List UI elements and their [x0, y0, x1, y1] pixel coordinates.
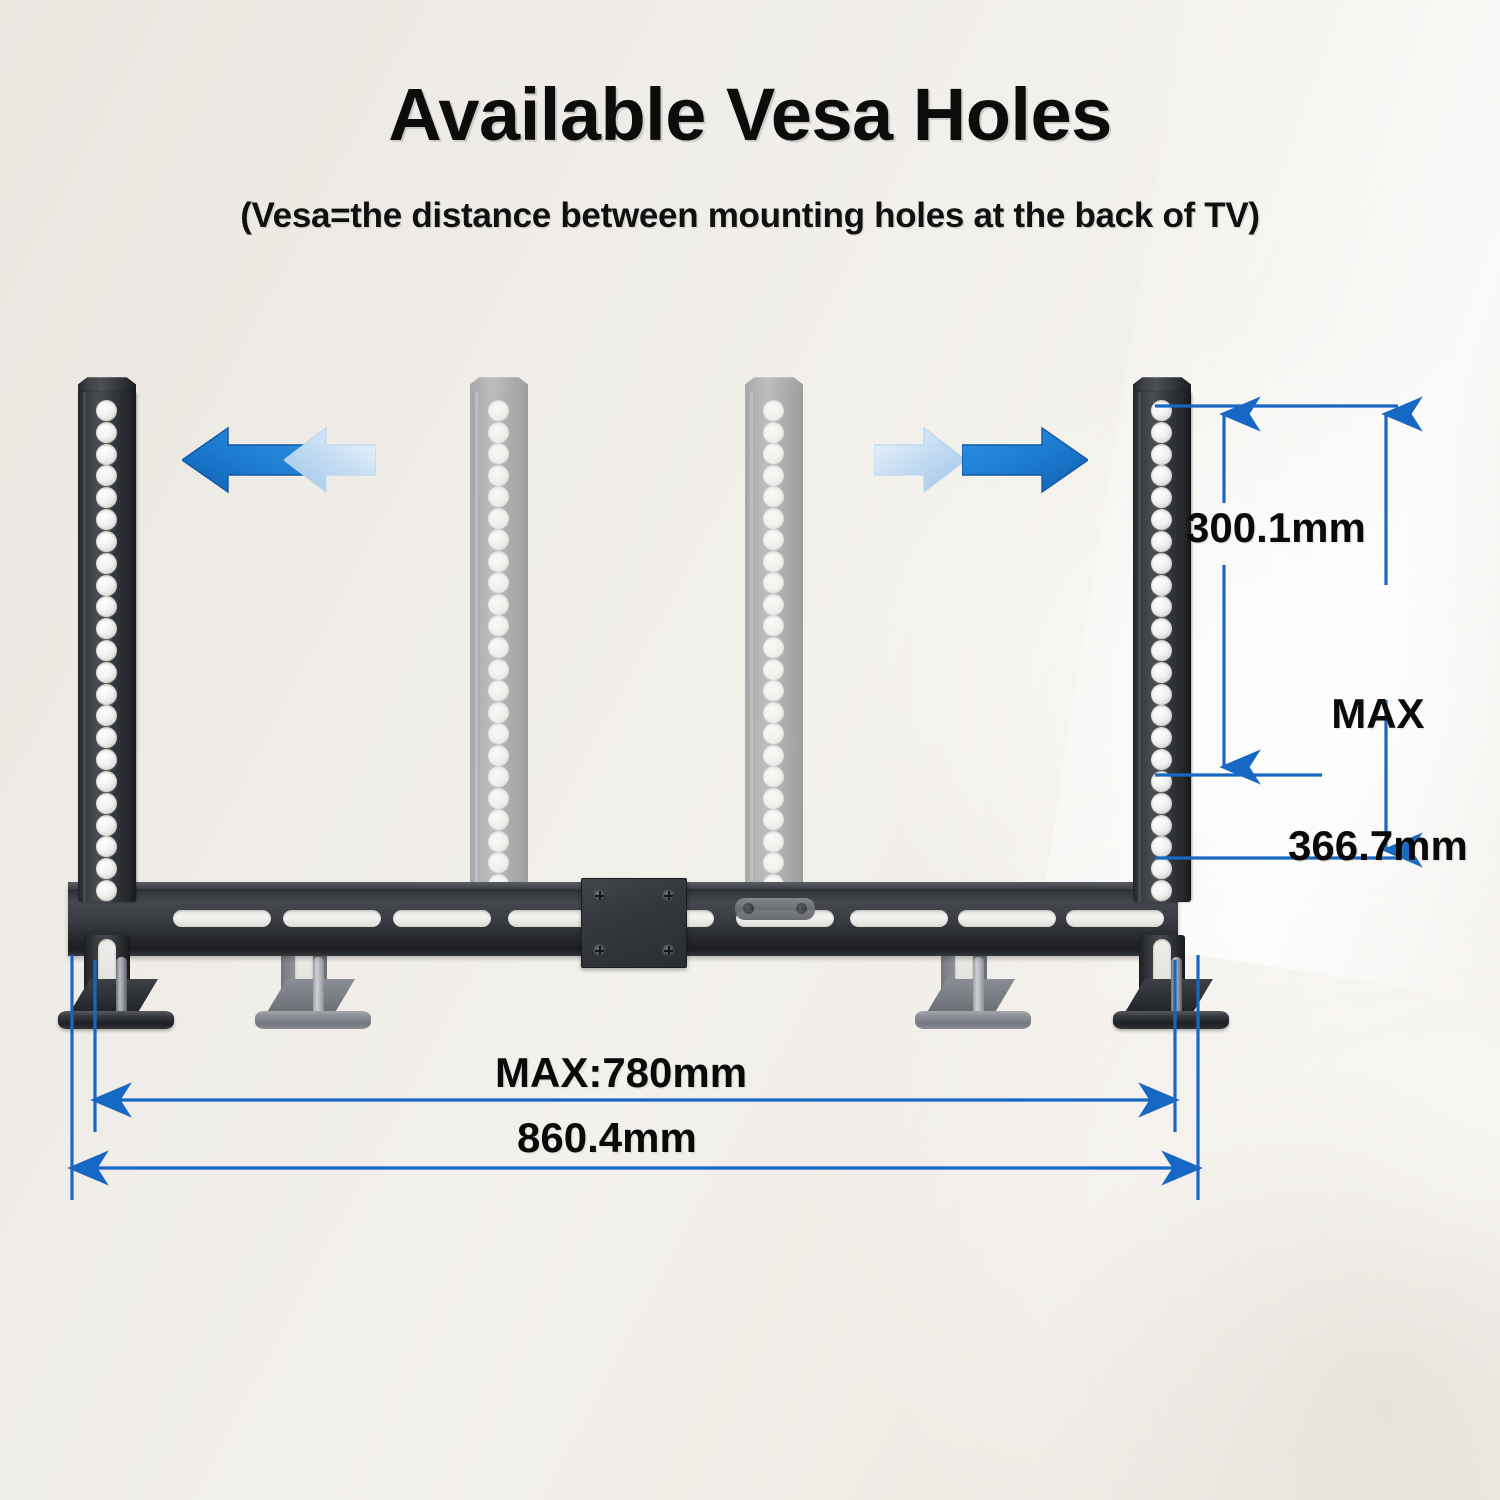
vesa-hole: [1151, 531, 1172, 552]
vesa-hole: [1151, 815, 1172, 836]
arrow-right-outer: [962, 424, 1088, 496]
vesa-hole: [763, 680, 784, 701]
middle-arm-ghost-1: [470, 392, 528, 896]
vesa-hole: [1151, 575, 1172, 596]
max-height-value: 366.7mm: [1288, 824, 1468, 868]
vesa-hole: [96, 575, 117, 596]
page-subtitle: (Vesa=the distance between mounting hole…: [0, 196, 1500, 236]
foot-post: [116, 957, 127, 1019]
vesa-hole: [96, 880, 117, 901]
middle-arm-ghost-2: [745, 392, 803, 896]
vesa-hole: [763, 422, 784, 443]
rail-slot: [283, 910, 381, 927]
vesa-hole: [96, 444, 117, 465]
vesa-hole: [96, 553, 117, 574]
vesa-hole: [488, 637, 509, 658]
vesa-hole: [763, 831, 784, 852]
vesa-hole: [763, 788, 784, 809]
vesa-hole: [96, 771, 117, 792]
vesa-hole: [96, 684, 117, 705]
arm-bevel-highlight: [750, 392, 753, 896]
vesa-hole: [763, 594, 784, 615]
vesa-hole: [1151, 553, 1172, 574]
plate-screw: [593, 944, 606, 957]
vesa-hole: [1151, 793, 1172, 814]
foot-base-plate: [58, 1011, 174, 1029]
plate-screw: [662, 944, 675, 957]
foot-base-plate: [1113, 1011, 1229, 1029]
vesa-hole: [763, 659, 784, 680]
foot-base-plate: [915, 1011, 1031, 1029]
arm-bevel-highlight: [475, 392, 478, 896]
vesa-hole: [96, 815, 117, 836]
vesa-hole: [488, 831, 509, 852]
dimension-label-total-width: 860.4mm: [517, 1114, 697, 1162]
plate-screw: [593, 889, 606, 902]
foot-post: [313, 957, 324, 1019]
center-vesa-plate: [581, 878, 687, 968]
vesa-hole: [1151, 662, 1172, 683]
vesa-hole: [763, 508, 784, 529]
rail-slot: [173, 910, 271, 927]
arm-bevel-highlight: [83, 392, 86, 902]
rail-slot: [850, 910, 948, 927]
arrow-left-inner: [284, 424, 376, 496]
page-title: Available Vesa Holes: [0, 72, 1500, 157]
wall-foot-right: [1113, 935, 1229, 1031]
vesa-hole: [763, 443, 784, 464]
foot-base-plate: [255, 1011, 371, 1029]
dimension-label-max-height: MAX 366.7mm: [1288, 604, 1468, 957]
vesa-hole: [488, 680, 509, 701]
dimension-label-max-width: MAX:780mm: [495, 1049, 747, 1097]
right-arm-solid: [1133, 392, 1191, 902]
vesa-hole: [488, 508, 509, 529]
vesa-hole: [763, 637, 784, 658]
left-arm-solid: [78, 392, 136, 902]
wall-foot-left: [58, 935, 174, 1031]
vesa-hole: [763, 400, 784, 421]
vesa-hole: [763, 745, 784, 766]
foot-post: [973, 957, 984, 1019]
vesa-hole: [1151, 422, 1172, 443]
dimension-label-vesa-height: 300.1mm: [1186, 504, 1366, 552]
rail-slot: [393, 910, 491, 927]
max-height-prefix: MAX: [1288, 692, 1468, 736]
arrow-right-inner: [874, 424, 966, 496]
vesa-hole: [1151, 509, 1172, 530]
vesa-hole: [96, 422, 117, 443]
vesa-hole: [1151, 684, 1172, 705]
vesa-hole: [763, 702, 784, 723]
vesa-hole: [1151, 400, 1172, 421]
vesa-hole: [1151, 749, 1172, 770]
vesa-hole: [1151, 444, 1172, 465]
vesa-hole: [488, 659, 509, 680]
vesa-hole: [1151, 880, 1172, 901]
background-corner-shadow: [1020, 1040, 1500, 1500]
arm-bevel-highlight: [1138, 392, 1141, 902]
vesa-hole: [1151, 640, 1172, 661]
foot-post: [1171, 957, 1182, 1019]
vesa-hole: [488, 465, 509, 486]
rail-slot: [1066, 910, 1164, 927]
vesa-hole: [488, 745, 509, 766]
vesa-hole: [96, 640, 117, 661]
vesa-hole: [488, 551, 509, 572]
vesa-hole: [96, 749, 117, 770]
vesa-hole: [763, 551, 784, 572]
vesa-hole: [488, 702, 509, 723]
vesa-hole: [488, 788, 509, 809]
diagram-canvas: Available Vesa Holes (Vesa=the distance …: [0, 0, 1500, 1500]
vesa-hole: [96, 662, 117, 683]
vesa-hole: [96, 793, 117, 814]
vesa-hole: [488, 422, 509, 443]
plate-screw: [662, 889, 675, 902]
vesa-hole: [488, 594, 509, 615]
vesa-hole: [763, 465, 784, 486]
rail-slot: [958, 910, 1056, 927]
vesa-hole: [488, 443, 509, 464]
rail-hardware-clip: [735, 898, 815, 920]
vesa-hole: [96, 531, 117, 552]
vesa-hole: [1151, 771, 1172, 792]
vesa-hole: [96, 400, 117, 421]
vesa-hole: [96, 509, 117, 530]
vesa-hole: [488, 400, 509, 421]
